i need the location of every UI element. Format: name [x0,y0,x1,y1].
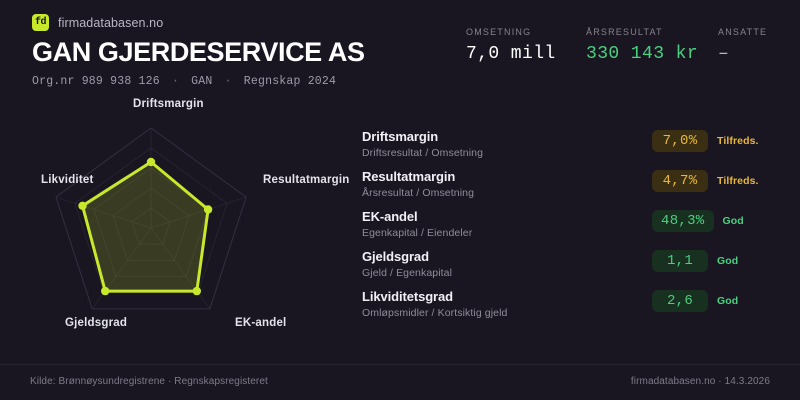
kpi-arsresultat-value: 330 143 kr [586,44,718,64]
kpi-arsresultat-label: ÅRSRESULTAT [586,27,718,37]
metric-name: Driftsmargin [362,129,652,144]
kpi-omsetning: OMSETNING 7,0 mill [466,27,586,64]
metric-rating: Tilfreds. [717,135,759,147]
radar-axis-label-gjeldsgrad: Gjeldsgrad [65,317,127,329]
metric-row-gjeldsgrad[interactable]: Gjeldsgrad Gjeld / Egenkapital 1,1 God [362,248,780,288]
metric-formula: Driftsresultat / Omsetning [362,147,652,159]
metric-texts: Likviditetsgrad Omløpsmidler / Kortsikti… [362,288,652,319]
site-name: firmadatabasen.no [58,16,163,30]
metric-rating: God [723,215,744,227]
kpi-ansatte: ANSATTE – [718,27,770,64]
radar-axis-label-resultatmargin: Resultatmargin [263,174,350,186]
kpi-omsetning-label: OMSETNING [466,27,586,37]
metric-name: Resultatmargin [362,169,652,184]
metric-formula: Omløpsmidler / Kortsiktig gjeld [362,307,652,319]
metric-right: 2,6 God [652,288,780,312]
page-footer: Kilde: Brønnøysundregistrene · Regnskaps… [0,364,800,400]
metric-formula: Årsresultat / Omsetning [362,187,652,199]
metric-texts: EK-andel Egenkapital / Eiendeler [362,208,652,239]
radar-chart: Driftsmargin Resultatmargin EK-andel Gje… [0,86,352,342]
metric-value-badge: 4,7% [652,170,708,192]
metric-right: 48,3% God [652,208,780,232]
metric-name: EK-andel [362,209,652,224]
metric-rating: God [717,255,738,267]
metric-rating: God [717,295,738,307]
metric-right: 1,1 God [652,248,780,272]
kpi-omsetning-value: 7,0 mill [466,44,586,64]
radar-axis-label-likviditet: Likviditet [41,174,93,186]
metric-right: 7,0% Tilfreds. [652,128,780,152]
metrics-list: Driftsmargin Driftsresultat / Omsetning … [362,128,780,328]
metric-formula: Gjeld / Egenkapital [362,267,652,279]
metric-texts: Gjeldsgrad Gjeld / Egenkapital [362,248,652,279]
metric-texts: Resultatmargin Årsresultat / Omsetning [362,168,652,199]
metric-right: 4,7% Tilfreds. [652,168,780,192]
radar-axis-label-driftsmargin: Driftsmargin [133,98,204,110]
metric-row-ek-andel[interactable]: EK-andel Egenkapital / Eiendeler 48,3% G… [362,208,780,248]
metric-row-driftsmargin[interactable]: Driftsmargin Driftsresultat / Omsetning … [362,128,780,168]
metric-row-resultatmargin[interactable]: Resultatmargin Årsresultat / Omsetning 4… [362,168,780,208]
kpi-ansatte-label: ANSATTE [718,27,770,37]
radar-chart-svg [0,86,352,342]
metric-value-badge: 48,3% [652,210,714,232]
metric-value-badge: 2,6 [652,290,708,312]
metric-rating: Tilfreds. [717,175,759,187]
kpi-strip: OMSETNING 7,0 mill ÅRSRESULTAT 330 143 k… [466,27,770,64]
metric-texts: Driftsmargin Driftsresultat / Omsetning [362,128,652,159]
metric-value-badge: 7,0% [652,130,708,152]
footer-attribution: firmadatabasen.no · 14.3.2026 [631,376,770,387]
metric-name: Gjeldsgrad [362,249,652,264]
radar-axis-label-ek-andel: EK-andel [235,317,286,329]
metric-name: Likviditetsgrad [362,289,652,304]
fd-logo-icon: fd [32,14,49,31]
kpi-arsresultat: ÅRSRESULTAT 330 143 kr [586,27,718,64]
footer-source: Kilde: Brønnøysundregistrene · Regnskaps… [30,376,268,387]
metric-formula: Egenkapital / Eiendeler [362,227,652,239]
kpi-ansatte-value: – [718,44,770,64]
metric-value-badge: 1,1 [652,250,708,272]
metric-row-likviditetsgrad[interactable]: Likviditetsgrad Omløpsmidler / Kortsikti… [362,288,780,328]
